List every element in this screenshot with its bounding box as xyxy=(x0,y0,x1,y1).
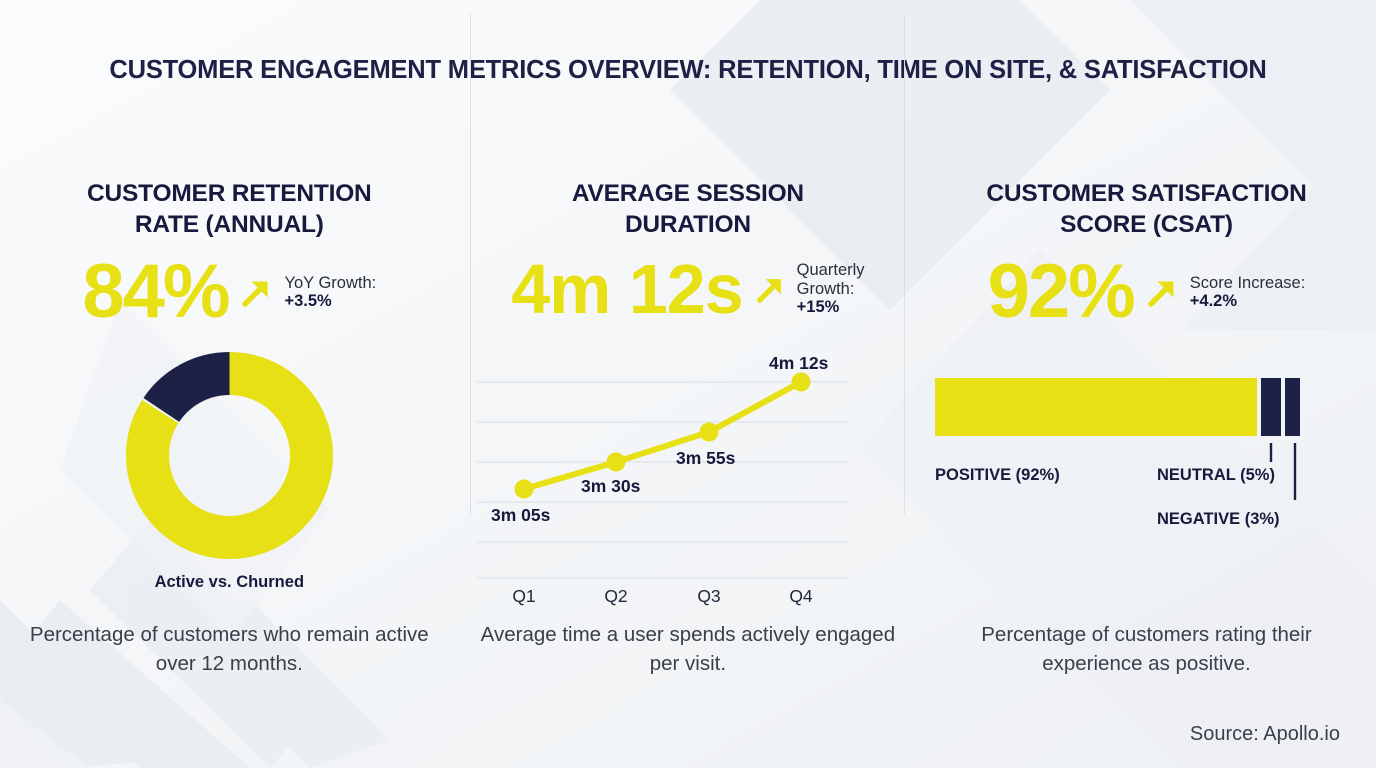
arrow-up-right-icon xyxy=(753,270,787,308)
panel-customer-satisfaction: CUSTOMER SATISFACTION SCORE (CSAT) 92% S… xyxy=(917,168,1376,688)
x-tick-q4: Q4 xyxy=(789,586,813,606)
source-attribution: Source: Apollo.io xyxy=(1190,723,1340,746)
panel-1-heading: CUSTOMER RETENTION RATE (ANNUAL) xyxy=(0,178,459,240)
data-point-q1 xyxy=(514,480,533,499)
panel-3-heading-line2: SCORE (CSAT) xyxy=(917,209,1376,240)
panel-2-description: Average time a user spends actively enga… xyxy=(481,620,896,678)
donut-svg xyxy=(122,348,337,563)
point-label-q1: 3m 05s xyxy=(491,505,551,525)
panel-1-growth-value: +3.5% xyxy=(284,292,376,310)
point-label-q2: 3m 30s xyxy=(581,476,641,496)
metric-panels: CUSTOMER RETENTION RATE (ANNUAL) 84% YoY… xyxy=(0,168,1376,688)
retention-donut-chart xyxy=(0,348,459,563)
panel-3-growth-value: +4.2% xyxy=(1190,292,1306,310)
panel-1-stat-row: 84% YoY Growth: +3.5% xyxy=(0,254,459,330)
panel-1-heading-line1: CUSTOMER RETENTION xyxy=(0,178,459,209)
donut-caption: Active vs. Churned xyxy=(0,573,459,592)
retention-rate-value: 84% xyxy=(82,254,228,330)
panel-3-description: Percentage of customers rating their exp… xyxy=(939,620,1354,678)
panel-2-growth-label: Quarterly Growth: xyxy=(797,261,865,298)
data-point-q3 xyxy=(699,423,718,442)
panel-divider-2 xyxy=(904,14,905,514)
bar-label-negative: NEGATIVE (3%) xyxy=(1157,510,1280,528)
panel-1-heading-line2: RATE (ANNUAL) xyxy=(0,209,459,240)
data-point-q2 xyxy=(606,453,625,472)
panel-2-heading: AVERAGE SESSION DURATION xyxy=(459,178,918,240)
csat-value: 92% xyxy=(988,254,1134,330)
panel-2-heading-line1: AVERAGE SESSION xyxy=(459,178,918,209)
x-tick-q1: Q1 xyxy=(512,586,535,606)
bar-label-neutral: NEUTRAL (5%) xyxy=(1157,466,1275,484)
session-duration-line-chart: 3m 05s 3m 30s 3m 55s 4m 12s Q1 Q2 Q3 Q4 xyxy=(469,344,869,614)
bar-segment-positive xyxy=(935,378,1257,436)
point-label-q4: 4m 12s xyxy=(769,353,829,373)
arrow-up-right-icon xyxy=(1144,273,1180,311)
panel-2-growth-value: +15% xyxy=(797,298,865,316)
panel-1-growth-label: YoY Growth: xyxy=(284,274,376,292)
panel-1-growth: YoY Growth: +3.5% xyxy=(284,274,376,311)
panel-3-growth: Score Increase: +4.2% xyxy=(1190,274,1306,311)
data-point-q4 xyxy=(791,373,810,392)
x-tick-q3: Q3 xyxy=(697,586,720,606)
page-title: CUSTOMER ENGAGEMENT METRICS OVERVIEW: RE… xyxy=(0,56,1376,85)
panel-2-stat-row: 4m 12s Quarterly Growth: +15% xyxy=(459,254,918,324)
point-label-q3: 3m 55s xyxy=(676,448,736,468)
csat-stacked-bar-chart: POSITIVE (92%) NEUTRAL (5%) NEGATIVE (3%… xyxy=(925,378,1340,578)
panel-customer-retention: CUSTOMER RETENTION RATE (ANNUAL) 84% YoY… xyxy=(0,168,459,688)
panel-1-description: Percentage of customers who remain activ… xyxy=(22,620,437,678)
panel-2-growth: Quarterly Growth: +15% xyxy=(797,261,865,316)
panel-2-heading-line2: DURATION xyxy=(459,209,918,240)
panel-3-growth-label: Score Increase: xyxy=(1190,274,1306,292)
panel-3-stat-row: 92% Score Increase: +4.2% xyxy=(917,254,1376,330)
panel-divider-1 xyxy=(470,14,471,514)
session-duration-value: 4m 12s xyxy=(511,254,742,324)
panel-3-heading-line1: CUSTOMER SATISFACTION xyxy=(917,178,1376,209)
arrow-up-right-icon xyxy=(238,273,274,311)
gridlines xyxy=(477,382,849,578)
panel-3-heading: CUSTOMER SATISFACTION SCORE (CSAT) xyxy=(917,178,1376,240)
panel-session-duration: AVERAGE SESSION DURATION 4m 12s Quarterl… xyxy=(459,168,918,688)
x-tick-q2: Q2 xyxy=(604,586,627,606)
line-series-session-duration xyxy=(524,382,801,489)
bar-label-positive: POSITIVE (92%) xyxy=(935,466,1060,484)
bar-segment-neutral xyxy=(1261,378,1281,436)
bar-segment-negative xyxy=(1285,378,1300,436)
